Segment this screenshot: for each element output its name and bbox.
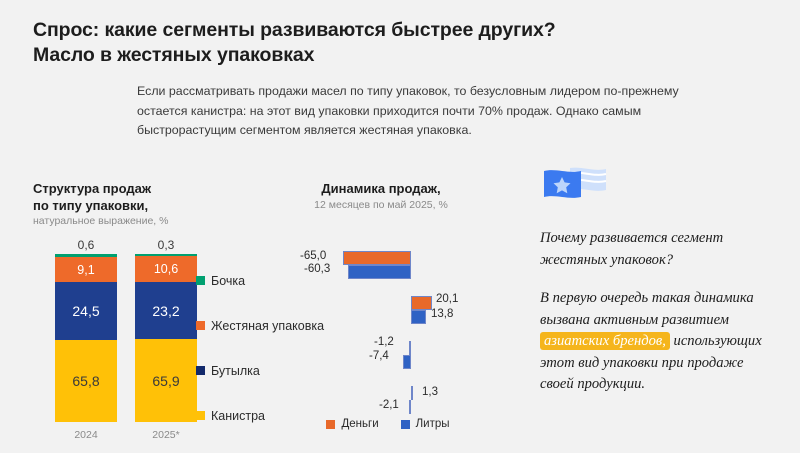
insight-text: Почему развивается сегмент жестяных упак…	[540, 228, 780, 396]
legend-label-bottle: Бутылка	[211, 364, 260, 378]
canister-color-swatch-icon	[196, 411, 205, 420]
barrel-color-swatch-icon	[196, 276, 205, 285]
mid-chart-subtitle: 12 месяцев по май 2025, %	[276, 198, 486, 212]
stack-bar-2024: 9,1 24,5 65,8	[55, 254, 117, 422]
insight-question: Почему развивается сегмент жестяных упак…	[540, 228, 780, 271]
segment-canister-2024: 65,8	[55, 340, 117, 422]
dyn-bar-money-bottle	[409, 341, 411, 355]
left-chart-subtitle: натуральное выражение, %	[33, 214, 213, 228]
segment-tin-2024: 9,1	[55, 257, 117, 282]
stacked-column-2025: 0,3 10,6 23,2 65,9 2025*	[135, 236, 197, 441]
legend-item-litres[interactable]: Литры	[401, 418, 450, 430]
left-chart-title-2: по типу упаковки,	[33, 198, 213, 215]
mid-chart-header: Динамика продаж, 12 месяцев по май 2025,…	[276, 181, 486, 212]
dyn-row-bottle: -1,2 -7,4	[276, 335, 500, 380]
dyn-bars-canister	[276, 386, 426, 416]
dynamics-legend: Деньги Литры	[276, 418, 500, 430]
slide-root: Спрос: какие сегменты развиваются быстре…	[0, 0, 800, 453]
money-color-swatch-icon	[326, 420, 335, 429]
insight-answer-part1: В первую очередь такая динамика вызвана …	[540, 290, 754, 328]
title-line-1: Спрос: какие сегменты развиваются быстре…	[33, 18, 773, 43]
dyn-bar-litres-bottle	[403, 355, 411, 369]
dyn-value-money-tin: 20,1	[436, 293, 458, 306]
dyn-value-litres-bottle: -7,4	[369, 350, 389, 363]
dyn-bars-barrel	[276, 251, 411, 281]
stack-bar-2025: 10,6 23,2 65,9	[135, 254, 197, 422]
barrel-value-2024: 0,6	[55, 236, 117, 254]
x-label-2024: 2024	[55, 422, 117, 441]
dyn-value-litres-tin: 13,8	[431, 308, 453, 321]
insight-answer: В первую очередь такая динамика вызвана …	[540, 288, 780, 396]
dyn-bar-litres-barrel	[348, 265, 411, 279]
legend-label-money: Деньги	[341, 418, 378, 430]
dyn-row-tin: 20,1 13,8	[276, 290, 500, 335]
dyn-value-money-bottle: -1,2	[374, 336, 394, 349]
dyn-bar-litres-tin	[411, 310, 426, 324]
legend-item-money[interactable]: Деньги	[326, 418, 378, 430]
bottle-color-swatch-icon	[196, 366, 205, 375]
segment-canister-2025: 65,9	[135, 339, 197, 422]
legend-label-litres: Литры	[416, 418, 450, 430]
flag-star-icon	[540, 166, 614, 214]
intro-paragraph: Если рассматривать продажи масел по типу…	[137, 82, 722, 141]
insight-panel: Почему развивается сегмент жестяных упак…	[540, 166, 780, 413]
insight-answer-highlight: азиатских брендов,	[540, 332, 670, 350]
dynamics-bar-chart: -65,0 -60,3 20,1 13,8 -1,2 -7,4	[276, 245, 500, 410]
dyn-bar-money-tin	[411, 296, 432, 310]
dyn-bar-litres-canister	[409, 400, 411, 414]
dyn-bar-money-canister	[411, 386, 413, 400]
dyn-value-litres-barrel: -60,3	[304, 263, 330, 276]
segment-bottle-2024: 24,5	[55, 282, 117, 340]
left-chart-title-1: Структура продаж	[33, 181, 213, 198]
stacked-column-2024: 0,6 9,1 24,5 65,8 2024	[55, 236, 117, 441]
x-label-2025: 2025*	[135, 422, 197, 441]
left-chart-header: Структура продаж по типу упаковки, натур…	[33, 181, 213, 228]
stacked-bar-chart: 0,6 9,1 24,5 65,8 2024 0,3 10,6 23,2 65,…	[33, 236, 213, 446]
litres-color-swatch-icon	[401, 420, 410, 429]
tin-color-swatch-icon	[196, 321, 205, 330]
mid-chart-title: Динамика продаж,	[276, 181, 486, 198]
title-line-2: Масло в жестяных упаковках	[33, 43, 773, 68]
segment-bottle-2025: 23,2	[135, 282, 197, 339]
dyn-bar-money-barrel	[343, 251, 411, 265]
segment-tin-2025: 10,6	[135, 256, 197, 282]
legend-label-canister: Канистра	[211, 409, 265, 423]
dyn-row-barrel: -65,0 -60,3	[276, 245, 500, 290]
barrel-value-2025: 0,3	[135, 236, 197, 254]
dyn-value-money-canister: 1,3	[422, 386, 438, 399]
dyn-value-litres-canister: -2,1	[379, 399, 399, 412]
dyn-value-money-barrel: -65,0	[300, 250, 326, 263]
legend-label-barrel: Бочка	[211, 274, 245, 288]
page-title: Спрос: какие сегменты развиваются быстре…	[33, 18, 773, 68]
